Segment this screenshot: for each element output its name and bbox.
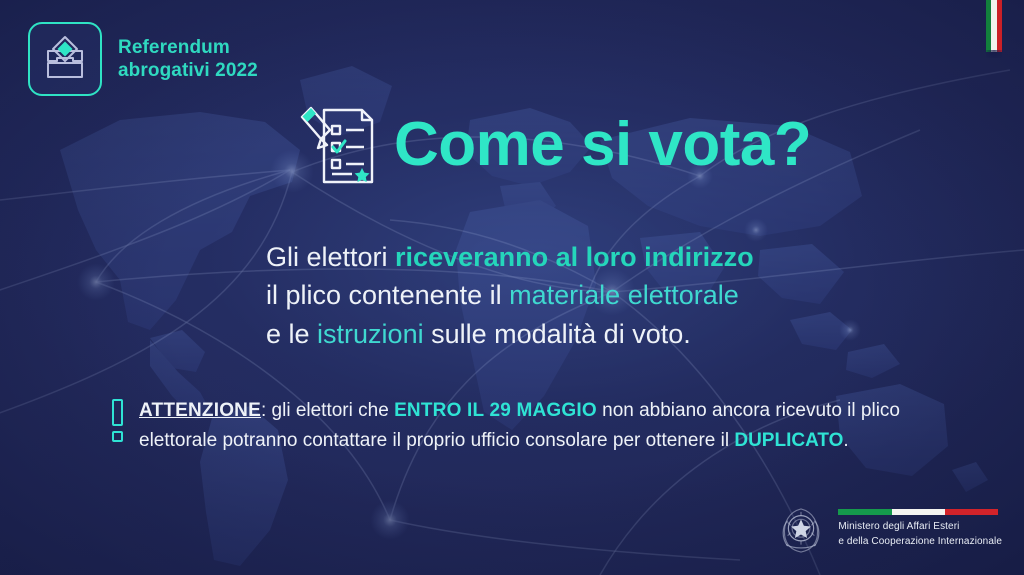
header: Referendum abrogativi 2022 bbox=[28, 22, 258, 96]
exclamation-dot bbox=[112, 431, 123, 442]
flagbar-red bbox=[945, 509, 998, 515]
attention-line-1: ATTENZIONE: gli elettori che ENTRO IL 29… bbox=[139, 396, 900, 426]
body-line-2-text: il plico contenente il bbox=[266, 280, 509, 310]
ministry-text-block: Ministero degli Affari Esteri e della Co… bbox=[838, 509, 1002, 549]
body-line-3-highlight: istruzioni bbox=[317, 319, 424, 349]
ministry-line-1: Ministero degli Affari Esteri bbox=[838, 520, 1002, 535]
ribbon-red-stripe bbox=[997, 0, 1002, 52]
body-line-3-text: e le bbox=[266, 319, 317, 349]
brand-line-1: Referendum bbox=[118, 36, 258, 59]
attention-line-2: elettorale potranno contattare il propri… bbox=[139, 426, 900, 456]
title-row: Come si vota? bbox=[300, 100, 811, 190]
exclamation-bar bbox=[112, 399, 123, 426]
body-line-3-tail: sulle modalità di voto. bbox=[424, 319, 691, 349]
exclamation-mark-icon bbox=[112, 399, 123, 442]
attention-line-1-text: : gli elettori che bbox=[261, 400, 394, 421]
italian-flag-ribbon-icon bbox=[986, 0, 1002, 52]
body-line-1-text: Gli elettori bbox=[266, 242, 395, 272]
body-line-2: il plico contenente il materiale elettor… bbox=[266, 276, 754, 314]
italian-flag-bar-icon bbox=[838, 509, 998, 515]
attention-note: ATTENZIONE: gli elettori che ENTRO IL 29… bbox=[112, 396, 900, 456]
body-line-2-highlight: materiale elettorale bbox=[509, 280, 739, 310]
italian-republic-emblem-icon bbox=[777, 503, 825, 555]
attention-deadline-highlight: ENTRO IL 29 MAGGIO bbox=[394, 400, 597, 421]
ministry-name: Ministero degli Affari Esteri e della Co… bbox=[838, 520, 1002, 549]
body-line-1: Gli elettori riceveranno al loro indiriz… bbox=[266, 238, 754, 276]
ministry-lockup: Ministero degli Affari Esteri e della Co… bbox=[777, 503, 1002, 555]
brand-line-2: abrogativi 2022 bbox=[118, 59, 258, 82]
ballot-paper-checklist-icon bbox=[300, 100, 376, 190]
poster-canvas: Referendum abrogativi 2022 bbox=[0, 0, 1024, 575]
flagbar-white bbox=[892, 509, 945, 515]
body-line-3: e le istruzioni sulle modalità di voto. bbox=[266, 315, 754, 353]
attention-label: ATTENZIONE bbox=[139, 400, 261, 421]
attention-duplicate-highlight: DUPLICATO bbox=[734, 430, 843, 451]
attention-text: ATTENZIONE: gli elettori che ENTRO IL 29… bbox=[139, 396, 900, 456]
attention-line-2-text: elettorale potranno contattare il propri… bbox=[139, 430, 734, 451]
ballot-box-icon bbox=[28, 22, 102, 96]
body-line-1-highlight: riceveranno al loro indirizzo bbox=[395, 242, 754, 272]
flagbar-green bbox=[838, 509, 891, 515]
attention-line-2-tail: . bbox=[843, 430, 848, 451]
attention-line-1-tail: non abbiano ancora ricevuto il plico bbox=[597, 400, 900, 421]
ministry-line-2: e della Cooperazione Internazionale bbox=[838, 535, 1002, 550]
page-title: Come si vota? bbox=[394, 114, 811, 176]
body-paragraph: Gli elettori riceveranno al loro indiriz… bbox=[266, 238, 754, 353]
brand-title: Referendum abrogativi 2022 bbox=[118, 36, 258, 82]
